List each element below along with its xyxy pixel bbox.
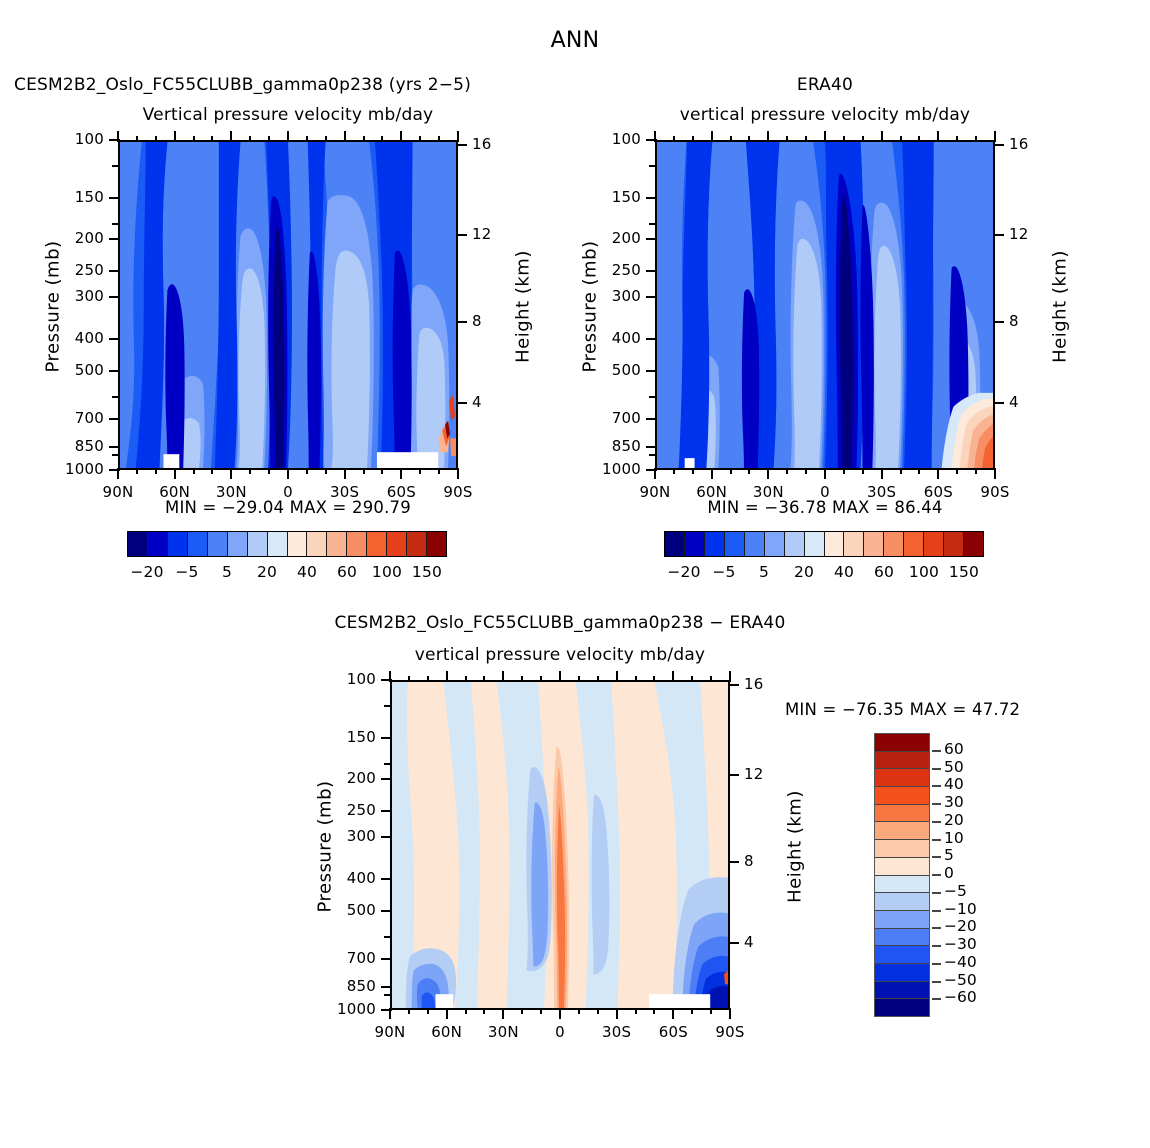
obs-latitude-minor-tick: [843, 468, 845, 474]
obs-latitude-tick: [654, 468, 656, 479]
diff-latitude-tick: [389, 1008, 391, 1019]
difference-colorbar[interactable]: [874, 733, 930, 1017]
difference-contour-plot[interactable]: [390, 680, 730, 1010]
difference-height-axis-label: Height (km): [785, 767, 806, 927]
diff-pressure-minor-tick: [384, 763, 391, 765]
obs-latitude-top-minor-tick: [786, 136, 788, 142]
diff-latitude-top-tick: [389, 671, 391, 682]
colorbar-cell: [825, 532, 845, 556]
diff-latitude-top-minor-tick: [597, 676, 599, 682]
colorbar-cell: [685, 532, 705, 556]
model-pressure-tick: [109, 418, 120, 420]
model-pressure-tick-label: 1000: [44, 460, 104, 478]
obs-pressure-tick: [646, 197, 657, 199]
diff-latitude-minor-tick: [408, 1008, 410, 1014]
obs-height-tick: [993, 402, 1004, 404]
obs-pressure-minor-tick: [649, 223, 656, 225]
obs-latitude-tick: [994, 468, 996, 479]
diff-latitude-top-minor-tick: [691, 676, 693, 682]
obs-latitude-minor-tick: [956, 468, 958, 474]
model-pressure-minor-tick: [112, 223, 119, 225]
obs-pressure-minor-tick: [649, 454, 656, 456]
obs-latitude-tick: [711, 468, 713, 479]
colorbar-tick-dash: [932, 892, 941, 894]
model-height-tick-label: 4: [472, 393, 506, 411]
diff-pressure-tick-label: 300: [316, 827, 376, 845]
diff-pressure-minor-tick: [384, 936, 391, 938]
diff-latitude-minor-tick: [483, 1008, 485, 1014]
obs-latitude-top-minor-tick: [918, 136, 920, 142]
model-case-title: CESM2B2_Oslo_FC55CLUBB_gamma0p238 (yrs 2…: [14, 75, 471, 95]
obs-latitude-top-minor-tick: [975, 136, 977, 142]
diff-latitude-tick-label: 90N: [360, 1023, 420, 1041]
model-pressure-tick-label: 200: [44, 229, 104, 247]
colorbar-cell: [875, 946, 929, 964]
colorbar-cell: [924, 532, 944, 556]
colorbar-tick-dash: [932, 839, 941, 841]
diff-latitude-tick-label: 30S: [587, 1023, 647, 1041]
colorbar-cell: [875, 752, 929, 770]
model-pressure-tick-label: 500: [44, 361, 104, 379]
obs-latitude-minor-tick: [786, 468, 788, 474]
colorbar-cell: [964, 532, 983, 556]
colorbar-cell: [427, 532, 446, 556]
colorbar-cell: [705, 532, 725, 556]
obs-latitude-tick: [937, 468, 939, 479]
obs-latitude-top-tick: [881, 131, 883, 142]
diff-latitude-minor-tick: [521, 1008, 523, 1014]
model-latitude-tick: [230, 468, 232, 479]
diff-pressure-tick: [381, 958, 392, 960]
colorbar-tick-label: −20: [944, 917, 977, 935]
obs-pressure-tick-label: 400: [581, 329, 641, 347]
colorbar-tick-label: 60: [944, 740, 964, 758]
obs-latitude-minor-tick: [673, 468, 675, 474]
diff-latitude-top-minor-tick: [540, 676, 542, 682]
obs-pressure-tick: [646, 446, 657, 448]
diff-pressure-tick-label: 1000: [316, 1000, 376, 1018]
model-pressure-tick-label: 100: [44, 130, 104, 148]
obs-latitude-top-minor-tick: [692, 136, 694, 142]
obs-latitude-top-minor-tick: [673, 136, 675, 142]
colorbar-tick-label: −5: [944, 882, 967, 900]
diff-pressure-tick: [381, 810, 392, 812]
diff-pressure-tick: [381, 878, 392, 880]
model-latitude-tick: [400, 468, 402, 479]
model-latitude-minor-tick: [363, 468, 365, 474]
diff-height-tick: [728, 861, 739, 863]
model-latitude-top-minor-tick: [136, 136, 138, 142]
model-pressure-tick: [109, 446, 120, 448]
obs-pressure-tick-label: 250: [581, 261, 641, 279]
colorbar-tick-label: 5: [944, 846, 954, 864]
diff-pressure-tick-label: 400: [316, 869, 376, 887]
model-latitude-top-minor-tick: [249, 136, 251, 142]
diff-pressure-tick: [381, 778, 392, 780]
diff-pressure-tick-label: 200: [316, 769, 376, 787]
colorbar-cell: [725, 532, 745, 556]
obs-variable-title: vertical pressure velocity mb/day: [655, 105, 995, 125]
obs-pressure-tick-label: 300: [581, 287, 641, 305]
model-latitude-top-minor-tick: [193, 136, 195, 142]
model-latitude-top-tick: [400, 131, 402, 142]
colorbar-tick-label: 30: [944, 793, 964, 811]
colorbar-cell: [944, 532, 964, 556]
obs-latitude-top-tick: [654, 131, 656, 142]
obs-latitude-top-tick: [994, 131, 996, 142]
colorbar-cell: [665, 532, 685, 556]
model-latitude-top-minor-tick: [325, 136, 327, 142]
colorbar-cell: [785, 532, 805, 556]
obs-pressure-tick-label: 200: [581, 229, 641, 247]
obs-latitude-top-minor-tick: [843, 136, 845, 142]
obs-contour-field: [657, 142, 993, 468]
model-pressure-tick-label: 250: [44, 261, 104, 279]
obs-pressure-tick-label: 850: [581, 437, 641, 455]
diff-latitude-tick: [446, 1008, 448, 1019]
model-height-tick-label: 16: [472, 135, 506, 153]
model-pressure-tick: [109, 370, 120, 372]
model-latitude-top-minor-tick: [419, 136, 421, 142]
diff-latitude-minor-tick: [540, 1008, 542, 1014]
obs-height-tick-label: 8: [1009, 312, 1043, 330]
model-latitude-top-tick: [117, 131, 119, 142]
colorbar-cell: [875, 822, 929, 840]
diff-latitude-top-tick: [616, 671, 618, 682]
colorbar-cell: [875, 840, 929, 858]
obs-latitude-tick: [881, 468, 883, 479]
diff-latitude-minor-tick: [710, 1008, 712, 1014]
colorbar-cell: [884, 532, 904, 556]
colorbar-tick-label: −40: [944, 953, 977, 971]
colorbar-cell: [327, 532, 347, 556]
obs-height-tick: [993, 321, 1004, 323]
diff-latitude-top-minor-tick: [710, 676, 712, 682]
model-latitude-minor-tick: [381, 468, 383, 474]
colorbar-cell: [904, 532, 924, 556]
model-pressure-tick: [109, 270, 120, 272]
diff-height-tick: [728, 684, 739, 686]
obs-contour-plot[interactable]: [655, 140, 995, 470]
colorbar-cell: [148, 532, 168, 556]
colorbar-cell: [875, 982, 929, 1000]
obs-pressure-tick-label: 150: [581, 188, 641, 206]
diff-latitude-top-minor-tick: [465, 676, 467, 682]
diff-latitude-tick: [559, 1008, 561, 1019]
colorbar-tick-dash: [932, 750, 941, 752]
obs-latitude-minor-tick: [805, 468, 807, 474]
diff-latitude-top-minor-tick: [483, 676, 485, 682]
colorbar-tick-label: 150: [397, 563, 457, 581]
obs-latitude-top-minor-tick: [748, 136, 750, 142]
colorbar-tick-dash: [932, 856, 941, 858]
colorbar-cell: [805, 532, 825, 556]
model-latitude-tick: [117, 468, 119, 479]
diff-latitude-minor-tick: [597, 1008, 599, 1014]
colorbar-cell: [307, 532, 327, 556]
model-latitude-minor-tick: [211, 468, 213, 474]
model-latitude-minor-tick: [306, 468, 308, 474]
diff-pressure-tick-label: 700: [316, 949, 376, 967]
colorbar-cell: [875, 805, 929, 823]
diff-latitude-top-minor-tick: [408, 676, 410, 682]
diff-latitude-top-minor-tick: [521, 676, 523, 682]
diff-latitude-top-tick: [672, 671, 674, 682]
model-height-axis-label: Height (km): [513, 227, 534, 387]
model-latitude-tick: [344, 468, 346, 479]
model-latitude-top-minor-tick: [438, 136, 440, 142]
diff-latitude-minor-tick: [691, 1008, 693, 1014]
diff-latitude-tick: [502, 1008, 504, 1019]
model-latitude-minor-tick: [249, 468, 251, 474]
model-latitude-minor-tick: [155, 468, 157, 474]
diff-pressure-tick: [381, 836, 392, 838]
colorbar-tick-dash: [932, 998, 941, 1000]
obs-pressure-minor-tick: [649, 396, 656, 398]
colorbar-cell: [208, 532, 228, 556]
colorbar-cell: [864, 532, 884, 556]
obs-latitude-minor-tick: [900, 468, 902, 474]
colorbar-cell: [367, 532, 387, 556]
colorbar-cell: [844, 532, 864, 556]
obs-height-axis-label: Height (km): [1050, 227, 1071, 387]
obs-minmax: MIN = −36.78 MAX = 86.44: [655, 498, 995, 517]
colorbar-cell: [228, 532, 248, 556]
diff-latitude-top-tick: [559, 671, 561, 682]
model-pressure-tick-label: 400: [44, 329, 104, 347]
colorbar-cell: [248, 532, 268, 556]
model-height-tick: [456, 321, 467, 323]
obs-case-title: ERA40: [655, 75, 995, 95]
obs-pressure-tick: [646, 370, 657, 372]
obs-latitude-top-minor-tick: [956, 136, 958, 142]
model-latitude-top-tick: [287, 131, 289, 142]
diff-height-tick-label: 16: [744, 675, 778, 693]
model-height-tick: [456, 144, 467, 146]
obs-pressure-tick-label: 700: [581, 409, 641, 427]
diff-pressure-minor-tick: [384, 705, 391, 707]
obs-latitude-top-minor-tick: [730, 136, 732, 142]
obs-pressure-minor-tick: [649, 165, 656, 167]
model-height-tick: [456, 402, 467, 404]
diff-pressure-tick: [381, 910, 392, 912]
colorbar-tick-dash: [932, 803, 941, 805]
model-minmax: MIN = −29.04 MAX = 290.79: [118, 498, 458, 517]
obs-latitude-top-tick: [937, 131, 939, 142]
obs-latitude-top-minor-tick: [862, 136, 864, 142]
obs-pressure-tick: [646, 418, 657, 420]
obs-latitude-minor-tick: [918, 468, 920, 474]
model-pressure-tick-label: 150: [44, 188, 104, 206]
model-latitude-tick: [457, 468, 459, 479]
colorbar-cell: [875, 893, 929, 911]
diff-latitude-minor-tick: [427, 1008, 429, 1014]
obs-height-tick: [993, 144, 1004, 146]
model-pressure-minor-tick: [112, 454, 119, 456]
model-latitude-minor-tick: [325, 468, 327, 474]
colorbar-tick-label: 150: [934, 563, 994, 581]
colorbar-cell: [875, 929, 929, 947]
obs-latitude-top-minor-tick: [900, 136, 902, 142]
model-latitude-top-minor-tick: [155, 136, 157, 142]
obs-latitude-top-tick: [711, 131, 713, 142]
colorbar-tick-label: −30: [944, 935, 977, 953]
obs-height-tick-label: 16: [1009, 135, 1043, 153]
model-latitude-minor-tick: [136, 468, 138, 474]
colorbar-tick-label: 0: [944, 864, 954, 882]
obs-latitude-minor-tick: [975, 468, 977, 474]
obs-height-tick: [993, 234, 1004, 236]
difference-variable-title: vertical pressure velocity mb/day: [390, 645, 730, 665]
model-contour-field: [120, 142, 456, 468]
colorbar-tick-dash: [932, 945, 941, 947]
diff-latitude-top-minor-tick: [578, 676, 580, 682]
colorbar-cell: [268, 532, 288, 556]
obs-pressure-tick-label: 500: [581, 361, 641, 379]
diff-latitude-minor-tick: [578, 1008, 580, 1014]
diff-latitude-minor-tick: [653, 1008, 655, 1014]
model-latitude-top-tick: [457, 131, 459, 142]
figure-main-title: ANN: [0, 28, 1150, 53]
diff-pressure-tick-label: 100: [316, 670, 376, 688]
model-latitude-top-minor-tick: [268, 136, 270, 142]
obs-pressure-tick: [646, 238, 657, 240]
diff-latitude-tick: [672, 1008, 674, 1019]
colorbar-tick-label: 50: [944, 758, 964, 776]
colorbar-cell: [407, 532, 427, 556]
obs-pressure-tick-label: 100: [581, 130, 641, 148]
difference-case-title: CESM2B2_Oslo_FC55CLUBB_gamma0p238 − ERA4…: [190, 613, 930, 633]
model-colorbar[interactable]: [127, 531, 447, 557]
model-height-tick-label: 12: [472, 225, 506, 243]
diff-latitude-top-minor-tick: [427, 676, 429, 682]
colorbar-tick-dash: [932, 927, 941, 929]
model-pressure-tick: [109, 296, 120, 298]
obs-latitude-top-tick: [767, 131, 769, 142]
diff-pressure-tick: [381, 737, 392, 739]
diff-pressure-tick: [381, 986, 392, 988]
model-latitude-minor-tick: [268, 468, 270, 474]
model-height-tick-label: 8: [472, 312, 506, 330]
difference-contour-field: [392, 682, 728, 1008]
colorbar-cell: [128, 532, 148, 556]
diff-pressure-tick-label: 150: [316, 728, 376, 746]
diff-height-tick-label: 8: [744, 852, 778, 870]
colorbar-tick-dash: [932, 821, 941, 823]
model-pressure-tick: [109, 238, 120, 240]
model-pressure-tick: [109, 197, 120, 199]
model-variable-title: Vertical pressure velocity mb/day: [118, 105, 458, 125]
colorbar-tick-dash: [932, 963, 941, 965]
model-pressure-minor-tick: [112, 396, 119, 398]
model-pressure-minor-tick: [112, 165, 119, 167]
diff-latitude-tick-label: 0: [530, 1023, 590, 1041]
obs-latitude-minor-tick: [730, 468, 732, 474]
obs-latitude-tick: [767, 468, 769, 479]
obs-pressure-tick: [646, 296, 657, 298]
colorbar-cell: [347, 532, 367, 556]
diff-pressure-tick-label: 850: [316, 977, 376, 995]
diff-latitude-top-tick: [502, 671, 504, 682]
colorbar-tick-dash: [932, 910, 941, 912]
model-latitude-top-tick: [344, 131, 346, 142]
diff-latitude-top-minor-tick: [653, 676, 655, 682]
diff-latitude-tick-label: 60N: [417, 1023, 477, 1041]
model-pressure-tick-label: 300: [44, 287, 104, 305]
obs-pressure-tick: [646, 338, 657, 340]
diff-latitude-top-minor-tick: [635, 676, 637, 682]
difference-minmax: MIN = −76.35 MAX = 47.72: [785, 700, 1020, 719]
colorbar-tick-label: −60: [944, 988, 977, 1006]
model-contour-plot[interactable]: [118, 140, 458, 470]
colorbar-tick-dash: [932, 981, 941, 983]
diff-height-tick-label: 12: [744, 765, 778, 783]
diff-latitude-tick-label: 30N: [473, 1023, 533, 1041]
model-height-tick: [456, 234, 467, 236]
model-latitude-top-tick: [230, 131, 232, 142]
model-latitude-tick: [174, 468, 176, 479]
colorbar-tick-label: −50: [944, 971, 977, 989]
colorbar-cell: [875, 787, 929, 805]
diff-latitude-tick-label: 60S: [643, 1023, 703, 1041]
diff-latitude-tick-label: 90S: [700, 1023, 760, 1041]
obs-height-tick-label: 4: [1009, 393, 1043, 411]
obs-pressure-tick-label: 1000: [581, 460, 641, 478]
obs-latitude-minor-tick: [692, 468, 694, 474]
model-latitude-top-minor-tick: [211, 136, 213, 142]
model-latitude-minor-tick: [419, 468, 421, 474]
obs-colorbar[interactable]: [664, 531, 984, 557]
diff-latitude-minor-tick: [465, 1008, 467, 1014]
colorbar-cell: [745, 532, 765, 556]
colorbar-tick-label: 10: [944, 829, 964, 847]
colorbar-tick-dash: [932, 768, 941, 770]
diff-pressure-tick-label: 250: [316, 801, 376, 819]
colorbar-cell: [387, 532, 407, 556]
colorbar-cell: [875, 999, 929, 1016]
colorbar-cell: [875, 964, 929, 982]
model-latitude-minor-tick: [438, 468, 440, 474]
obs-latitude-tick: [824, 468, 826, 479]
model-latitude-minor-tick: [193, 468, 195, 474]
obs-latitude-minor-tick: [862, 468, 864, 474]
diff-pressure-tick-label: 500: [316, 901, 376, 919]
obs-latitude-top-tick: [824, 131, 826, 142]
colorbar-tick-dash: [932, 785, 941, 787]
model-latitude-top-tick: [174, 131, 176, 142]
colorbar-cell: [168, 532, 188, 556]
model-latitude-tick: [287, 468, 289, 479]
diff-height-tick-label: 4: [744, 933, 778, 951]
colorbar-cell: [875, 876, 929, 894]
obs-latitude-top-minor-tick: [805, 136, 807, 142]
model-latitude-top-minor-tick: [306, 136, 308, 142]
colorbar-cell: [875, 769, 929, 787]
obs-latitude-minor-tick: [748, 468, 750, 474]
diff-latitude-tick: [616, 1008, 618, 1019]
model-pressure-tick-label: 700: [44, 409, 104, 427]
model-pressure-tick: [109, 338, 120, 340]
diff-pressure-minor-tick: [384, 994, 391, 996]
model-pressure-tick-label: 850: [44, 437, 104, 455]
obs-pressure-tick: [646, 270, 657, 272]
colorbar-cell: [288, 532, 308, 556]
colorbar-cell: [875, 734, 929, 752]
colorbar-cell: [765, 532, 785, 556]
colorbar-cell: [188, 532, 208, 556]
diff-latitude-top-tick: [446, 671, 448, 682]
diff-latitude-tick: [729, 1008, 731, 1019]
